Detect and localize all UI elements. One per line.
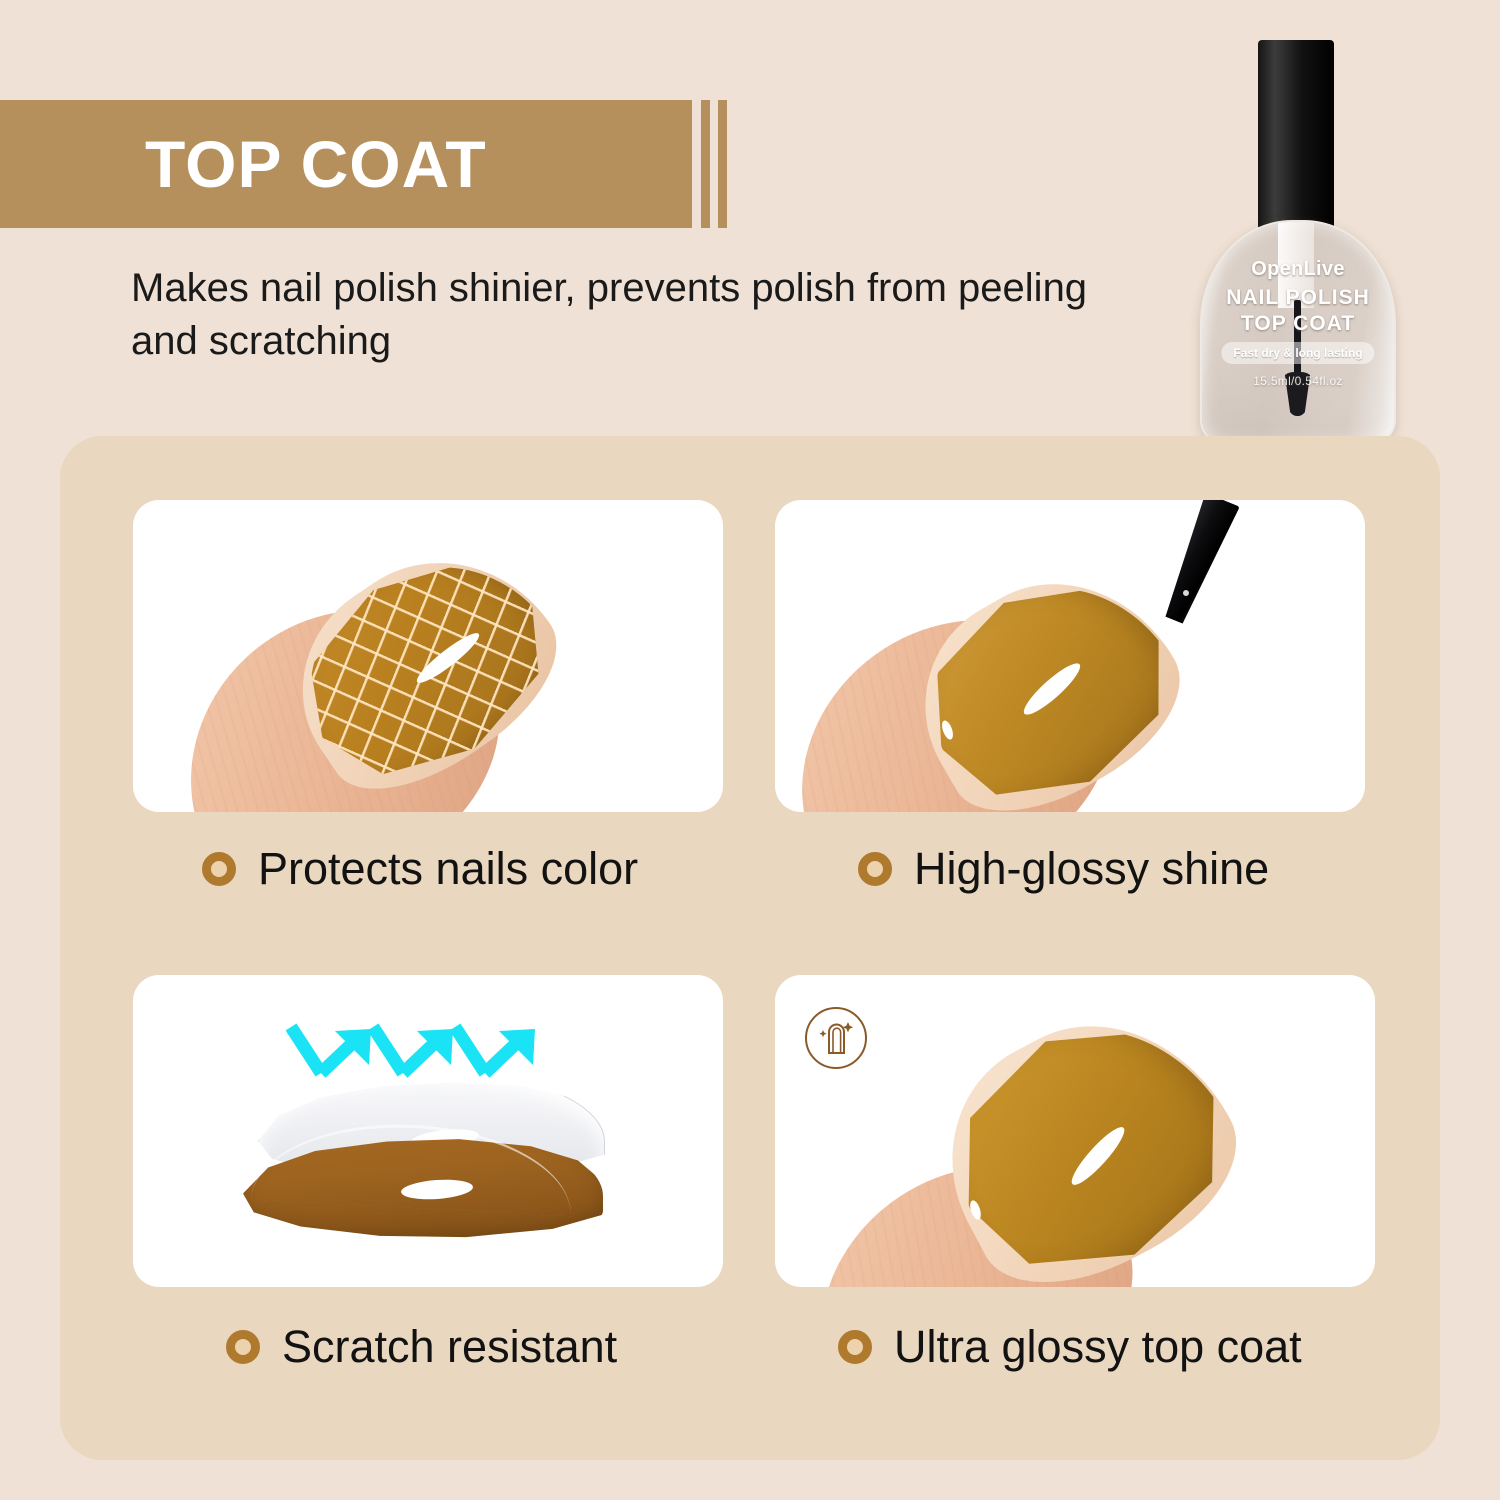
caption-label: Scratch resistant xyxy=(282,1324,617,1369)
bottle-product-name-line-1: NAIL POLISH xyxy=(1202,286,1394,310)
bottle-product-name-line-2: TOP COAT xyxy=(1202,312,1394,336)
deflect-arrow-icon-1 xyxy=(283,1023,375,1093)
feature-card-protects-nails-color[interactable] xyxy=(133,500,723,812)
caption-label: High-glossy shine xyxy=(914,846,1269,891)
bottle-tagline-label: Fast dry & long lasting xyxy=(1233,346,1362,360)
bottle-volume-label: 15.5ml/0.54fl.oz xyxy=(1202,374,1394,388)
deflect-arrow-icon-2 xyxy=(365,1023,457,1093)
bullet-icon xyxy=(226,1330,260,1364)
bottle-tagline-pill: Fast dry & long lasting xyxy=(1221,342,1374,364)
scratch-resistance-diagram xyxy=(133,975,723,1287)
feature-caption-ultra-glossy-top-coat: Ultra glossy top coat xyxy=(838,1324,1302,1369)
bullet-icon xyxy=(858,852,892,886)
polish-brush-applicator xyxy=(1152,500,1240,627)
header-banner: TOP COAT xyxy=(0,100,692,228)
bottle-brand-label: OpenLive xyxy=(1202,258,1394,281)
caption-label: Ultra glossy top coat xyxy=(894,1324,1302,1369)
banner-accent-line-1 xyxy=(701,100,710,228)
banner-accent-line-2 xyxy=(718,100,727,228)
feature-caption-scratch-resistant: Scratch resistant xyxy=(226,1324,617,1369)
nail-grid-illustration xyxy=(133,500,723,812)
product-bottle-image: OpenLive NAIL POLISH TOP COAT Fast dry &… xyxy=(1186,28,1416,478)
bullet-icon xyxy=(838,1330,872,1364)
feature-card-scratch-resistant[interactable] xyxy=(133,975,723,1287)
feature-card-high-glossy-shine[interactable] xyxy=(775,500,1365,812)
bottle-glass-body: OpenLive NAIL POLISH TOP COAT Fast dry &… xyxy=(1200,220,1396,446)
feature-caption-high-glossy-shine: High-glossy shine xyxy=(858,846,1269,891)
bullet-icon xyxy=(202,852,236,886)
nail-brush-illustration xyxy=(775,500,1365,812)
page-subtitle: Makes nail polish shinier, prevents poli… xyxy=(131,262,1121,368)
deflect-arrow-icon-3 xyxy=(447,1023,539,1093)
bottle-cap xyxy=(1258,40,1334,228)
caption-label: Protects nails color xyxy=(258,846,638,891)
page-title: TOP COAT xyxy=(145,131,487,197)
ultra-glossy-nail-illustration xyxy=(775,975,1375,1287)
feature-card-ultra-glossy-top-coat[interactable] xyxy=(775,975,1375,1287)
feature-caption-protects-nails-color: Protects nails color xyxy=(202,846,638,891)
